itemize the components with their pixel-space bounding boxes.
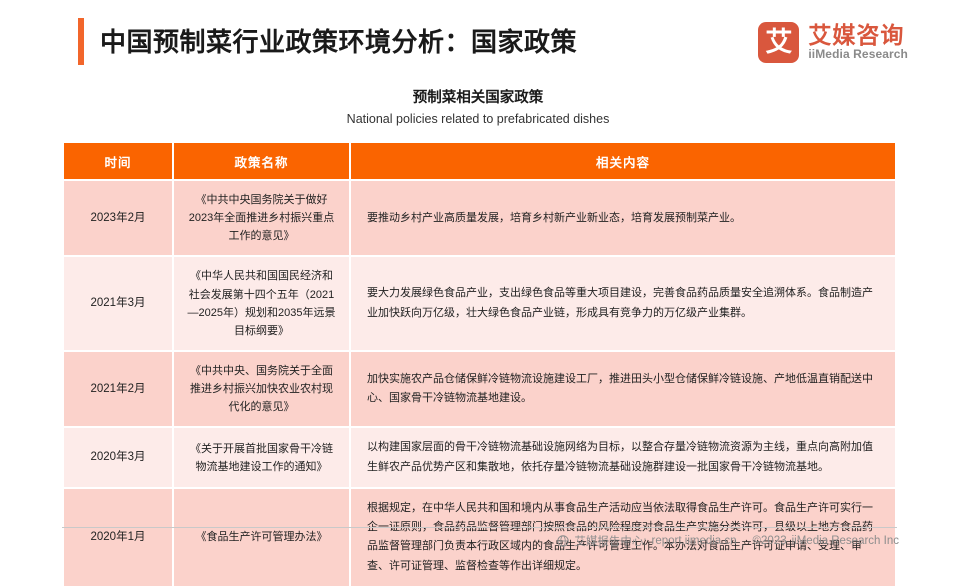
cell-time: 2021年2月 bbox=[64, 352, 172, 426]
table-body: 2023年2月 《中共中央国务院关于做好2023年全面推进乡村振兴重点工作的意见… bbox=[64, 181, 895, 586]
brand-logo: 艾 艾媒咨询 iiMedia Research bbox=[758, 22, 908, 63]
page-title: 中国预制菜行业政策环境分析：国家政策 bbox=[100, 29, 577, 55]
table-row: 2023年2月 《中共中央国务院关于做好2023年全面推进乡村振兴重点工作的意见… bbox=[64, 181, 895, 255]
chart-title-cn: 预制菜相关国家政策 bbox=[0, 86, 956, 107]
footer: 艾媒报告中心: report.iimedia.cn ©2023 iiMedia … bbox=[557, 533, 899, 549]
policy-table: 时间 政策名称 相关内容 2023年2月 《中共中央国务院关于做好2023年全面… bbox=[62, 141, 897, 588]
globe-icon bbox=[557, 535, 569, 547]
table-header-row: 时间 政策名称 相关内容 bbox=[64, 143, 895, 179]
cell-policy-name: 《食品生产许可管理办法》 bbox=[174, 489, 349, 586]
cell-time: 2020年1月 bbox=[64, 489, 172, 586]
logo-mark-icon: 艾 bbox=[758, 22, 799, 63]
table-row: 2021年3月 《中华人民共和国国民经济和社会发展第十四个五年（2021—202… bbox=[64, 257, 895, 350]
cell-policy-name: 《中共中央国务院关于做好2023年全面推进乡村振兴重点工作的意见》 bbox=[174, 181, 349, 255]
chart-title-en: National policies related to prefabricat… bbox=[0, 112, 956, 126]
cell-policy-name: 《中共中央、国务院关于全面推进乡村振兴加快农业农村现代化的意见》 bbox=[174, 352, 349, 426]
table-row: 2021年2月 《中共中央、国务院关于全面推进乡村振兴加快农业农村现代化的意见》… bbox=[64, 352, 895, 426]
column-header-content: 相关内容 bbox=[351, 143, 895, 179]
footer-center-label: 艾媒报告中心: bbox=[574, 533, 646, 549]
table-row: 2020年3月 《关于开展首批国家骨干冷链物流基地建设工作的通知》 以构建国家层… bbox=[64, 428, 895, 487]
cell-content: 以构建国家层面的骨干冷链物流基础设施网络为目标，以整合存量冷链物流资源为主线，重… bbox=[351, 428, 895, 487]
column-header-policy-name: 政策名称 bbox=[174, 143, 349, 179]
cell-policy-name: 《关于开展首批国家骨干冷链物流基地建设工作的通知》 bbox=[174, 428, 349, 487]
cell-time: 2020年3月 bbox=[64, 428, 172, 487]
footer-company: iiMedia Research Inc bbox=[792, 535, 899, 547]
logo-text: 艾媒咨询 iiMedia Research bbox=[808, 23, 908, 63]
column-header-time: 时间 bbox=[64, 143, 172, 179]
title-accent-bar bbox=[78, 18, 84, 65]
cell-policy-name: 《中华人民共和国国民经济和社会发展第十四个五年（2021—2025年）规划和20… bbox=[174, 257, 349, 350]
title-block: 中国预制菜行业政策环境分析：国家政策 bbox=[78, 18, 577, 65]
cell-content: 要推动乡村产业高质量发展，培育乡村新产业新业态，培育发展预制菜产业。 bbox=[351, 181, 895, 255]
footer-url[interactable]: report.iimedia.cn bbox=[652, 535, 737, 547]
page-header: 中国预制菜行业政策环境分析：国家政策 艾 艾媒咨询 iiMedia Resear… bbox=[0, 0, 956, 80]
cell-content: 要大力发展绿色食品产业，支出绿色食品等重大项目建设，完善食品药品质量安全追溯体系… bbox=[351, 257, 895, 350]
footer-copyright: ©2023 bbox=[753, 535, 787, 547]
cell-time: 2021年3月 bbox=[64, 257, 172, 350]
cell-content: 加快实施农产品仓储保鲜冷链物流设施建设工厂，推进田头小型仓储保鲜冷链设施、产地低… bbox=[351, 352, 895, 426]
table-head: 时间 政策名称 相关内容 bbox=[64, 143, 895, 179]
cell-time: 2023年2月 bbox=[64, 181, 172, 255]
footer-divider bbox=[62, 527, 897, 528]
logo-name-en: iiMedia Research bbox=[808, 47, 908, 62]
logo-name-cn: 艾媒咨询 bbox=[808, 23, 908, 48]
